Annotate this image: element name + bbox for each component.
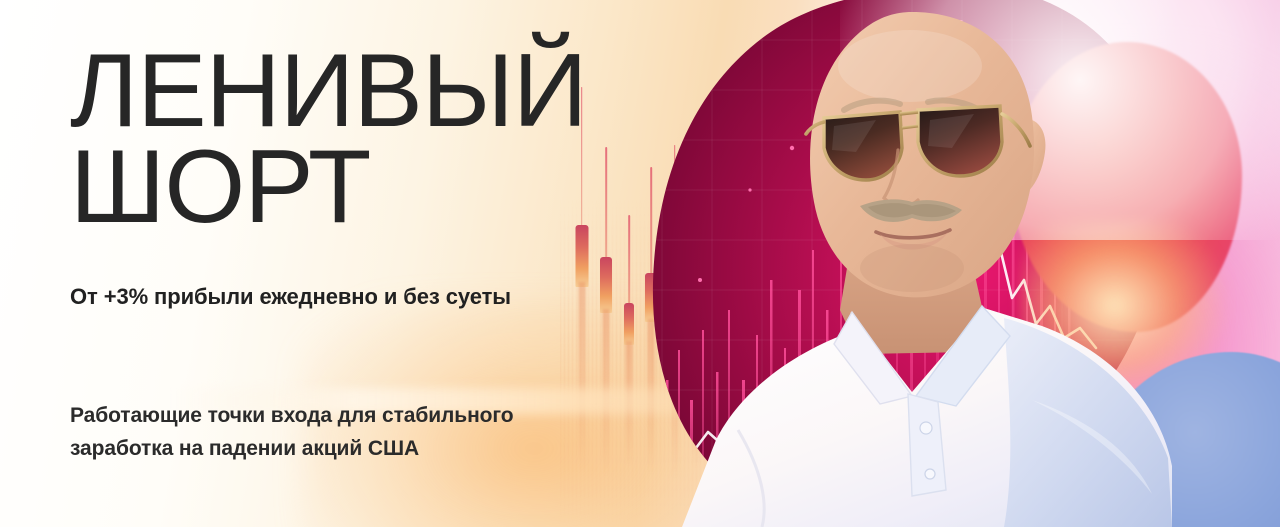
candle-wick	[605, 147, 607, 259]
portrait-photo	[612, 0, 1252, 527]
chin-shadow	[860, 244, 964, 292]
shirt-button-bottom	[925, 469, 935, 479]
promo-banner: ЛЕНИВЫЙ ШОРТ От +3% прибыли ежедневно и …	[0, 0, 1280, 527]
forehead-highlight	[838, 30, 982, 102]
glasses-bridge-bottom	[902, 126, 918, 128]
candlestick	[600, 127, 612, 527]
shirt-button-top	[920, 422, 932, 434]
banner-subtitle: От +3% прибыли ежедневно и без суеты	[70, 281, 530, 312]
banner-body-text: Работающие точки входа для стабильного з…	[70, 400, 525, 465]
candle-body	[600, 257, 612, 313]
page-title: ЛЕНИВЫЙ ШОРТ	[70, 44, 587, 235]
glasses-bridge-top	[900, 112, 918, 114]
candle-tail	[578, 282, 585, 472]
man-portrait-illustration	[612, 0, 1252, 527]
